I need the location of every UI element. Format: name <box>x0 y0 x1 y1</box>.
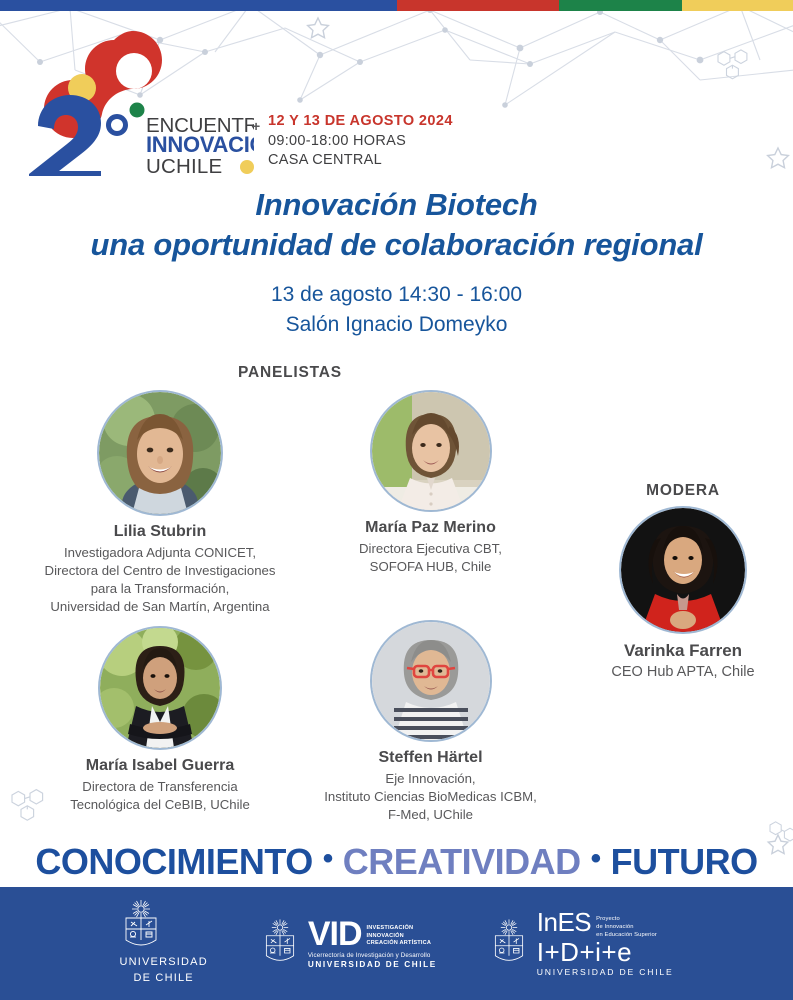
avatar <box>621 508 745 632</box>
panelist-role-line: Directora Ejecutiva CBT, <box>308 540 553 558</box>
panelist-role: Directora Ejecutiva CBT, SOFOFA HUB, Chi… <box>308 540 553 576</box>
topbar-segment-green <box>559 0 682 11</box>
panelist-card-hartel: Steffen Härtel Eje Innovación, Instituto… <box>288 622 573 824</box>
event-meta: + 12 Y 13 DE AGOSTO 2024 09:00-18:00 HOR… <box>252 112 512 171</box>
panelists-label: PANELISTAS <box>0 364 580 382</box>
panelist-role-line: Eje Innovación, <box>288 770 573 788</box>
panelist-role-line: F-Med, UChile <box>288 806 573 824</box>
page-title: Innovación Biotech una oportunidad de co… <box>0 185 793 265</box>
panelist-role-line: Directora de Transferencia <box>15 778 305 796</box>
avatar <box>372 392 490 510</box>
uchile-shield-icon <box>119 900 163 952</box>
uchile-shield-icon <box>260 919 300 967</box>
panelist-role: Directora de Transferencia Tecnológica d… <box>15 778 305 814</box>
logo-vid: VID INVESTIGACIÓN INNOVACIÓN CREACIÓN AR… <box>260 918 437 968</box>
uchile-name: UNIVERSIDAD DE CHILE <box>119 955 207 987</box>
title-line-2: una oportunidad de colaboración regional <box>0 225 793 265</box>
event-place: CASA CENTRAL <box>268 151 512 171</box>
vid-acronym: VID <box>308 918 362 950</box>
session-subtitle: 13 de agosto 14:30 - 16:00 Salón Ignacio… <box>0 280 793 340</box>
event-hours: 09:00-18:00 HORAS <box>268 132 512 152</box>
event-date: 12 Y 13 DE AGOSTO 2024 <box>268 112 512 132</box>
svg-text:UCHILE: UCHILE <box>146 155 222 176</box>
title-line-1: Innovación Biotech <box>0 185 793 225</box>
uchile-line-1: UNIVERSIDAD <box>119 955 207 971</box>
panelist-card-stubrin: Lilia Stubrin Investigadora Adjunta CONI… <box>15 392 305 616</box>
panelist-role-line: Tecnológica del CeBIB, UChile <box>15 796 305 814</box>
event-poster: ENCUENTRO DE INNOVACIÓN UCHILE + 12 Y 13… <box>0 0 793 1000</box>
slogan-word-futuro: FUTURO <box>611 841 758 883</box>
logo-universidad-de-chile: UNIVERSIDAD DE CHILE <box>119 900 207 987</box>
uchile-shield-icon <box>489 919 529 967</box>
panelist-name: Lilia Stubrin <box>15 522 305 542</box>
panelist-role-line: para la Transformación, <box>15 580 305 598</box>
ines-note-1: Proyecto <box>596 915 657 923</box>
panelist-role-line: Instituto Ciencias BioMedicas ICBM, <box>288 788 573 806</box>
vid-subtitle: Vicerrectoría de Investigación y Desarro… <box>308 952 437 959</box>
slogan-word-conocimiento: CONOCIMIENTO <box>35 841 312 883</box>
panelist-card-merino: María Paz Merino Directora Ejecutiva CBT… <box>308 392 553 576</box>
slogan-banner: CONOCIMIENTO • CREATIVIDAD • FUTURO <box>0 838 793 886</box>
session-datetime: 13 de agosto 14:30 - 16:00 <box>0 280 793 310</box>
vid-tag-3: CREACIÓN ARTÍSTICA <box>367 940 432 948</box>
moderator-name: Varinka Farren <box>573 640 793 661</box>
uchile-line-2: DE CHILE <box>119 971 207 987</box>
ines-line-1: InES <box>537 910 591 935</box>
footer-logos: UNIVERSIDAD DE CHILE <box>0 887 793 1000</box>
avatar <box>372 622 490 740</box>
vid-university: UNIVERSIDAD DE CHILE <box>308 960 437 969</box>
top-color-bar <box>0 0 793 11</box>
moderator-card-farren: Varinka Farren CEO Hub APTA, Chile <box>573 508 793 683</box>
poster-header: ENCUENTRO DE INNOVACIÓN UCHILE + 12 Y 13… <box>0 14 793 174</box>
ines-note-2: de Innovación <box>596 923 657 931</box>
panelist-role: Eje Innovación, Instituto Ciencias BioMe… <box>288 770 573 824</box>
panelist-card-guerra: María Isabel Guerra Directora de Transfe… <box>15 628 305 814</box>
panelist-role-line: SOFOFA HUB, Chile <box>308 558 553 576</box>
panelist-role: Investigadora Adjunta CONICET, Directora… <box>15 544 305 616</box>
panelist-role-line: Investigadora Adjunta CONICET, <box>15 544 305 562</box>
panelist-name: María Isabel Guerra <box>15 756 305 776</box>
panelist-name: María Paz Merino <box>308 518 553 538</box>
avatar <box>100 628 220 748</box>
ines-line-3: UNIVERSIDAD DE CHILE <box>537 967 674 977</box>
topbar-segment-yellow <box>682 0 793 11</box>
vid-tag-1: INVESTIGACIÓN <box>367 925 432 933</box>
topbar-segment-blue <box>0 0 397 11</box>
ines-line-2: I+D+i+e <box>537 940 674 965</box>
panelist-role-line: Directora del Centro de Investigaciones <box>15 562 305 580</box>
topbar-segment-red <box>397 0 560 11</box>
plus-icon: + <box>252 117 260 136</box>
session-venue: Salón Ignacio Domeyko <box>0 310 793 340</box>
svg-text:INNOVACIÓN: INNOVACIÓN <box>146 132 254 157</box>
avatar <box>99 392 221 514</box>
slogan-dot-1: • <box>323 842 333 876</box>
logo-ines: InES Proyecto de Innovación en Educación… <box>489 910 674 977</box>
slogan-word-creatividad: CREATIVIDAD <box>343 841 581 883</box>
event-logo: ENCUENTRO DE INNOVACIÓN UCHILE <box>22 26 254 176</box>
moderator-role-line: CEO Hub APTA, Chile <box>573 663 793 683</box>
panelist-role-line: Universidad de San Martín, Argentina <box>15 598 305 616</box>
moderator-role: CEO Hub APTA, Chile <box>573 663 793 683</box>
panelist-name: Steffen Härtel <box>288 748 573 768</box>
slogan-dot-2: • <box>591 842 601 876</box>
moderator-label: MODERA <box>573 482 793 500</box>
